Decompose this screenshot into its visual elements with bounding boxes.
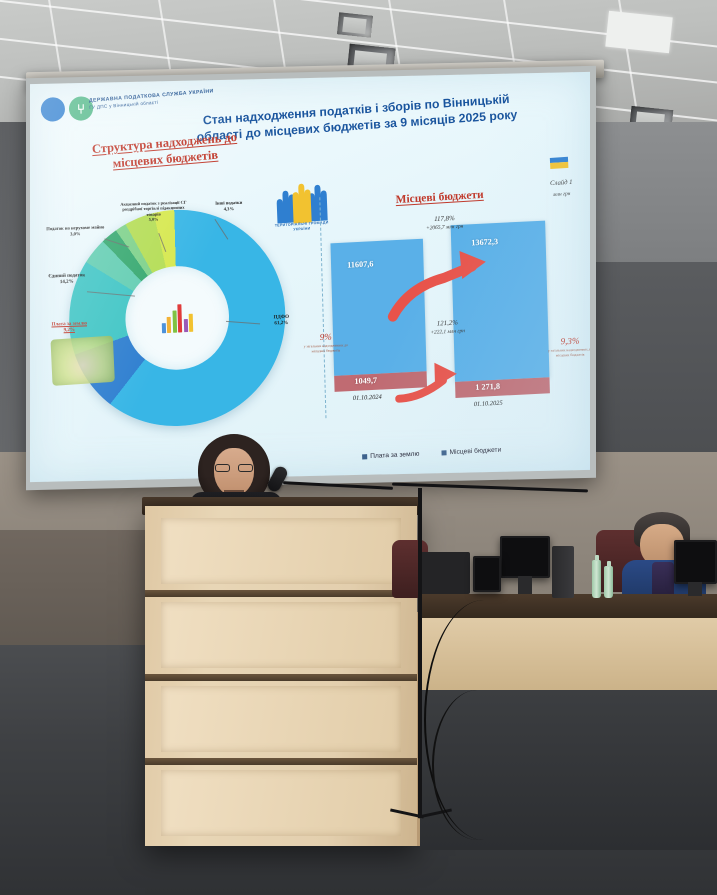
pc-tower [552,546,574,598]
monitor-1 [500,536,550,578]
podium-seam-1 [145,590,417,597]
side-text-right: у загальних надходженнях до місцевих бюд… [548,347,590,359]
legend-label-land: Плата за землю [370,451,419,460]
laptop [420,552,470,594]
ceiling-light-panel [605,11,672,53]
bar-date-2025: 01.10.2025 [474,400,503,408]
side-percent-left: 9% [303,331,349,343]
logo-circle-blue [41,97,65,122]
projection-screen: ⑂ ДЕРЖАВНА ПОДАТКОВА СЛУЖБА УКРАЇНИ ГУ Д… [30,72,590,482]
podium-panel-1 [161,518,401,584]
water-bottle-2 [604,566,613,598]
bar-chart: 11607,6 1049,7 01.10.2024 13672,3 1 271,… [328,207,583,420]
bar-value-land-2025: 1 271,8 [475,382,500,392]
side-note-right: 9,3% у загальних надходженнях до місцеви… [548,335,590,359]
podium-seam-3 [145,758,417,765]
agency-name: ДЕРЖАВНА ПОДАТКОВА СЛУЖБА УКРАЇНИ ГУ ДПС… [89,88,214,110]
pie-label-excise-tax: Акцизний податок з реалізації СГ роздріб… [116,199,191,223]
bar-date-2024: 01.10.2024 [353,394,382,402]
pie-label-land-payment: Плата за землю 9,2% [39,321,99,336]
legend-label-budgets: Місцеві бюджети [449,447,501,457]
podium-panel-4 [161,770,401,836]
legend-item-land: Плата за землю [362,451,419,461]
wheat-illustration [51,336,115,386]
pie-label-pdfo: ПДФО 61,2% [258,314,304,328]
water-bottle-1 [592,560,601,598]
monitor-2-stand [688,582,702,596]
slide-number-block: Слайд 1 млн грн [550,179,573,198]
monitor-2 [674,540,717,584]
side-percent-right: 9,3% [548,335,590,346]
pie-label-property-tax: Податок на нерухоме майно 3,0% [42,224,108,238]
side-text-left: у загальних надходженнях до місцевих бюд… [303,343,349,355]
ukraine-flag-icon [550,157,569,169]
legend-swatch-land [362,454,367,459]
podium-panel-2 [161,602,401,668]
slide-unit: млн грн [550,191,573,198]
bar-value-land-2024: 1049,7 [354,376,377,386]
pie-label-single-tax: Єдиний податок 14,2% [35,273,99,288]
podium [145,506,417,846]
podium-panel-3 [161,686,401,752]
pie-chart [66,205,288,432]
slide-number: Слайд 1 [550,179,573,187]
mic-stand-pole [418,488,422,818]
ceiling-vent-icon [337,12,373,37]
growth-arrow-budgets-icon [385,245,498,325]
monitor-3 [473,556,501,592]
pie-section-title: Структура надходжень до місцевих бюджеті… [69,128,262,176]
bar-chart-legend: Плата за землю Місцеві бюджети [362,447,501,461]
legend-item-budgets: Місцеві бюджети [441,447,501,457]
glasses-icon [215,464,253,472]
agency-logo: ⑂ [41,96,94,122]
monitor-1-stand [518,576,532,594]
bar-section-title: Місцеві бюджети [395,189,483,206]
side-note-left: 9% у загальних надходженнях до місцевих … [303,331,349,355]
conference-hall-photo: ⑂ ДЕРЖАВНА ПОДАТКОВА СЛУЖБА УКРАЇНИ ГУ Д… [0,0,717,895]
growth-arrow-land-icon [394,353,476,403]
presentation-slide: ⑂ ДЕРЖАВНА ПОДАТКОВА СЛУЖБА УКРАЇНИ ГУ Д… [30,72,590,482]
legend-swatch-budgets [441,450,446,455]
podium-seam-2 [145,674,417,681]
cable-2 [432,690,522,840]
presenter-face [214,448,254,496]
mini-bar-illustration [161,303,194,333]
pie-label-other-taxes: Інші податки 4,3% [201,199,257,212]
bar-value-budgets-2024: 11607,6 [347,259,374,269]
